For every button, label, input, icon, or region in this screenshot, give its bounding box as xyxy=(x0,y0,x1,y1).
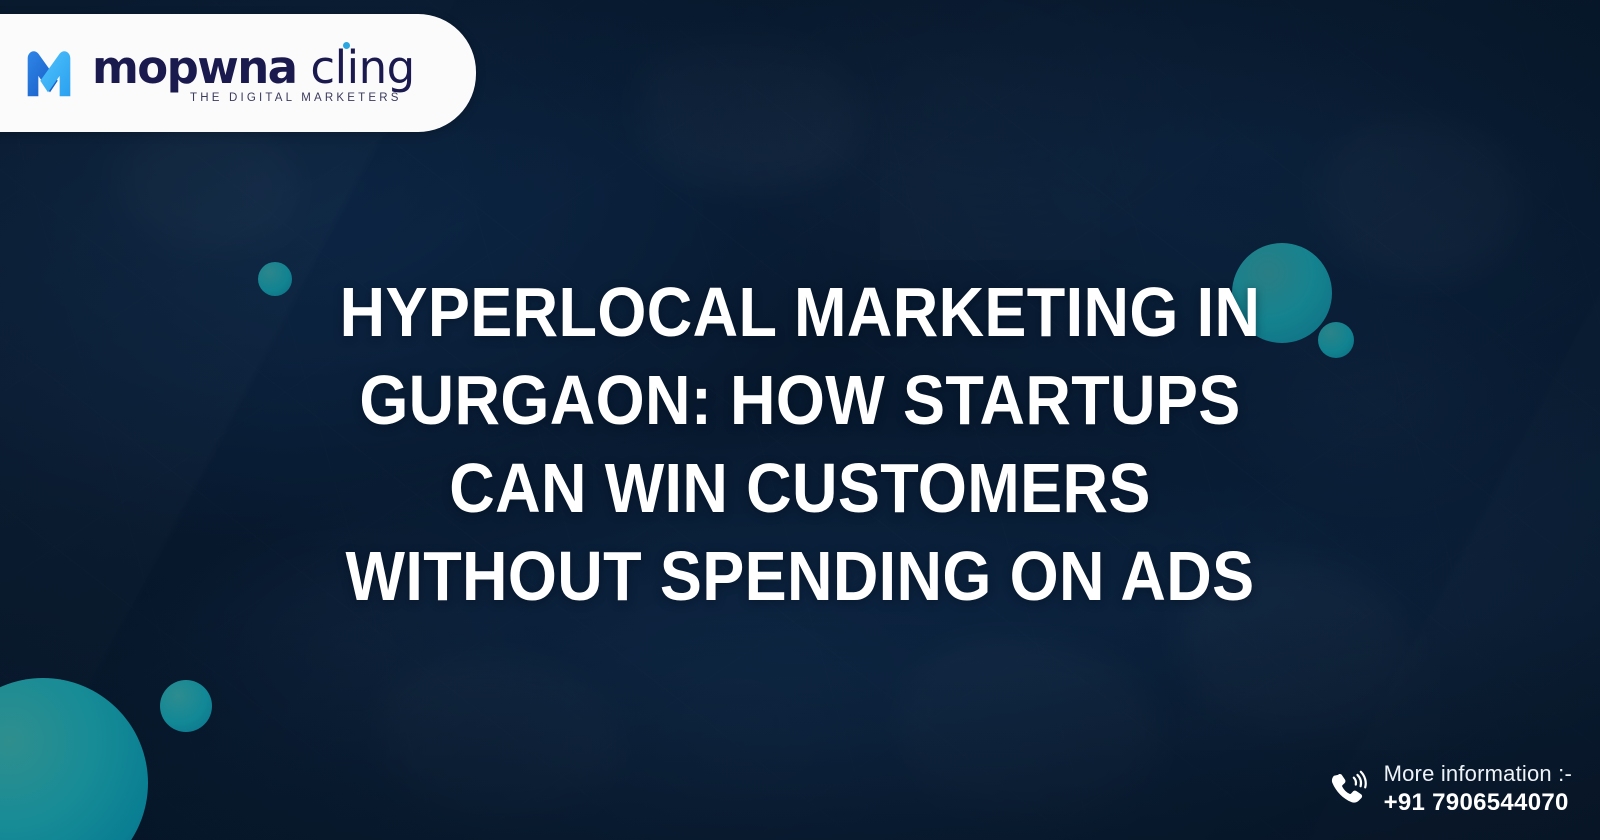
contact-text: More information :- +91 7906544070 xyxy=(1384,760,1572,818)
headline-line-3: CAN WIN CUSTOMERS xyxy=(143,444,1457,532)
logo-badge[interactable]: mopwna cling THE DIGITAL MARKETERS xyxy=(0,14,476,132)
phone-ringing-icon xyxy=(1324,766,1370,812)
logo-i-dot-icon xyxy=(343,42,350,49)
contact-phone-number[interactable]: +91 7906544070 xyxy=(1384,788,1572,818)
headline-line-4: WITHOUT SPENDING ON ADS xyxy=(143,532,1457,620)
promotional-banner: mopwna cling THE DIGITAL MARKETERS HYPER… xyxy=(0,0,1600,840)
logo-wordmark: mopwna cling THE DIGITAL MARKETERS xyxy=(92,43,415,104)
contact-label: More information :- xyxy=(1384,760,1572,788)
headline: HYPERLOCAL MARKETING IN GURGAON: HOW STA… xyxy=(0,268,1600,620)
teal-circle-bottom-left-small xyxy=(160,680,212,732)
contact-block[interactable]: More information :- +91 7906544070 xyxy=(1324,760,1572,818)
mopwna-m-arrow-logo-icon xyxy=(18,42,80,104)
logo-sub-brand-label: cling xyxy=(310,41,414,94)
logo-brand-text: mopwna xyxy=(92,45,296,90)
headline-line-1: HYPERLOCAL MARKETING IN xyxy=(143,268,1457,356)
headline-line-2: GURGAON: HOW STARTUPS xyxy=(143,356,1457,444)
logo-sub-brand-text: cling xyxy=(310,45,414,90)
